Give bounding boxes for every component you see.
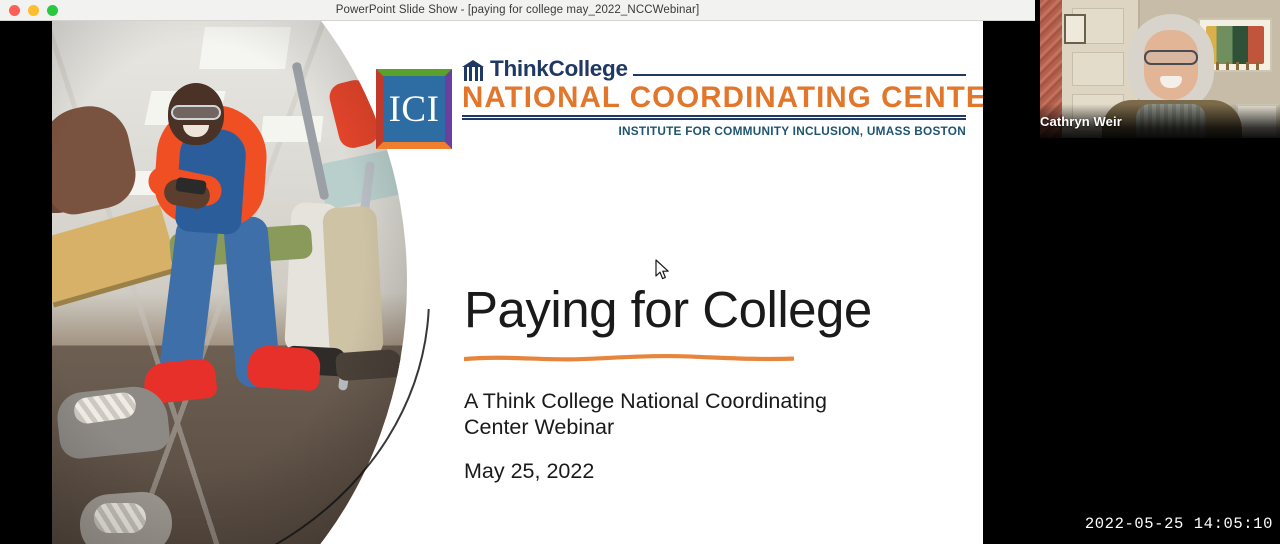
wall-artwork-detail	[1206, 62, 1264, 70]
minimize-window-button[interactable]	[28, 5, 39, 16]
window-title-bar: PowerPoint Slide Show - [paying for coll…	[0, 0, 1035, 21]
slide-text-block: Paying for College A Think College Natio…	[464, 283, 964, 484]
mouse-cursor	[655, 259, 671, 281]
logo-lockup-text: ThinkCollege NATIONAL COORDINATING CENTE…	[462, 51, 966, 138]
ici-logo-text: ICI	[383, 76, 445, 142]
participant-glasses	[1144, 50, 1198, 65]
think-college-ncc-logo: ICI ThinkCollege NATIONAL COORDINATING C…	[376, 51, 966, 151]
window-title: PowerPoint Slide Show - [paying for coll…	[0, 4, 1035, 16]
video-panel-column[interactable]: 2022-05-25 14:05:10	[1035, 0, 1280, 544]
wall-picture-frame	[1064, 14, 1086, 44]
slide-subtitle: A Think College National Coordinating Ce…	[464, 388, 894, 440]
logo-rule	[633, 74, 966, 76]
institute-line: INSTITUTE FOR COMMUNITY INCLUSION, UMASS…	[462, 124, 966, 138]
participant-face	[1144, 30, 1198, 100]
ici-logo-mark: ICI	[376, 69, 452, 149]
zoom-window-button[interactable]	[47, 5, 58, 16]
orange-wave-underline	[464, 353, 794, 363]
classical-column-icon	[462, 60, 485, 81]
wall-artwork	[1206, 26, 1264, 64]
recording-timestamp: 2022-05-25 14:05:10	[1085, 515, 1273, 533]
program-name: NATIONAL COORDINATING CENTER	[462, 82, 966, 113]
think-college-row: ThinkCollege	[462, 51, 966, 81]
slide-canvas[interactable]: ICI ThinkCollege NATIONAL COORDINATING C…	[52, 21, 983, 544]
window-controls[interactable]	[0, 5, 58, 16]
logo-double-rule	[462, 115, 966, 120]
slideshow-stage[interactable]: ICI ThinkCollege NATIONAL COORDINATING C…	[0, 21, 1035, 544]
participant-name-label: Cathryn Weir	[1040, 114, 1122, 129]
slide-date: May 25, 2022	[464, 459, 964, 484]
close-window-button[interactable]	[9, 5, 20, 16]
brand-name: ThinkCollege	[490, 58, 628, 82]
screen: PowerPoint Slide Show - [paying for coll…	[0, 0, 1280, 544]
slide-title: Paying for College	[464, 283, 964, 337]
